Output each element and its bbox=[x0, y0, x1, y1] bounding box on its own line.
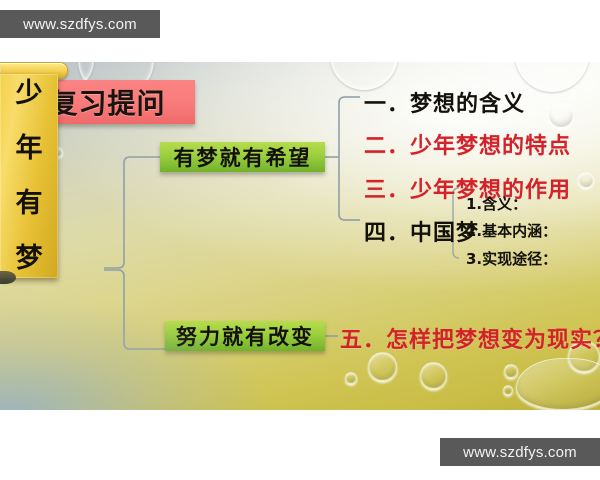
sub-item-3: 3.实现途径： bbox=[466, 248, 557, 269]
banner-char-3: 有 bbox=[16, 190, 43, 217]
outline-item-2: 二．少年梦想的特点 bbox=[364, 128, 571, 160]
bubble-decor-icon bbox=[503, 385, 513, 395]
bubble-decor-icon bbox=[578, 172, 594, 188]
node-change[interactable]: 努力就有改变 bbox=[165, 321, 325, 351]
node-central-banner[interactable]: 少 年 有 梦 bbox=[0, 62, 58, 288]
bubble-decor-icon bbox=[368, 352, 397, 381]
bubble-decor-icon bbox=[420, 362, 447, 389]
sub-item-2: 2.基本内涵： bbox=[466, 220, 557, 241]
scroll-knob-icon bbox=[0, 66, 3, 74]
watermark-top: www.szdfys.com bbox=[0, 10, 160, 38]
water-blob-decor-icon bbox=[516, 358, 600, 410]
slide-canvas: 复习提问 少 年 有 梦 有梦就有希望 努力就有改变 一．梦想的含义 二．少年梦… bbox=[0, 62, 600, 410]
slide-page: www.szdfys.com bbox=[0, 0, 600, 480]
banner-char-2: 年 bbox=[16, 135, 43, 162]
banner-char-4: 梦 bbox=[16, 245, 43, 272]
watermark-bottom-text: www.szdfys.com bbox=[463, 444, 577, 461]
scroll-foot bbox=[0, 271, 16, 284]
bubble-decor-icon bbox=[504, 364, 518, 378]
bubble-decor-icon bbox=[345, 372, 357, 384]
outline-item-5: 五．怎样把梦想变为现实？ bbox=[340, 322, 600, 354]
node-change-label: 努力就有改变 bbox=[176, 321, 314, 351]
banner-char-1: 少 bbox=[16, 80, 43, 107]
watermark-bottom: www.szdfys.com bbox=[440, 438, 600, 466]
node-review-question-label: 复习提问 bbox=[49, 82, 165, 122]
outline-item-4: 四．中国梦 bbox=[364, 215, 479, 247]
central-banner-characters: 少 年 有 梦 bbox=[0, 80, 58, 272]
bubble-decor-icon bbox=[548, 102, 574, 128]
bubble-decor-icon bbox=[515, 62, 589, 92]
outline-item-1: 一．梦想的含义 bbox=[364, 86, 525, 118]
watermark-top-text: www.szdfys.com bbox=[23, 16, 137, 33]
sub-item-1: 1.含义： bbox=[466, 193, 527, 214]
node-hope-label: 有梦就有希望 bbox=[174, 142, 312, 172]
node-hope[interactable]: 有梦就有希望 bbox=[160, 142, 325, 172]
